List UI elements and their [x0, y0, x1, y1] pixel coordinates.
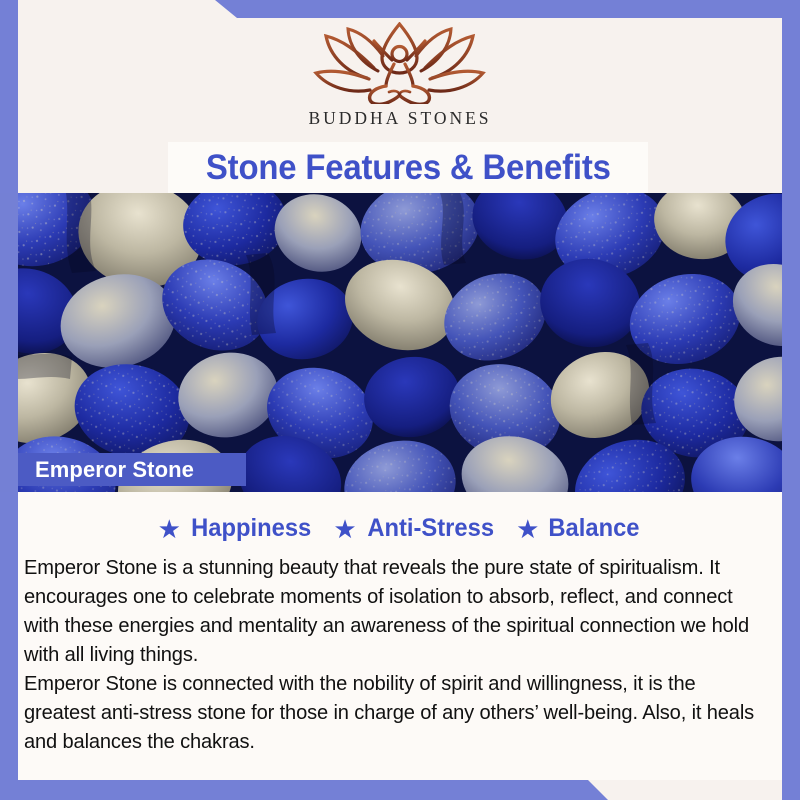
star-icon: ★	[516, 516, 539, 542]
benefit-item: ★ Balance	[516, 514, 642, 543]
border-accent-bottom	[0, 780, 800, 800]
benefit-item: ★ Anti-Stress	[333, 514, 497, 543]
description: Emperor Stone is a stunning beauty that …	[18, 553, 782, 756]
benefit-item: ★ Happiness	[158, 514, 315, 543]
benefits-list: ★ Happiness ★ Anti-Stress ★ Balance	[18, 514, 782, 543]
page-title-text: Stone Features & Benefits	[206, 148, 611, 188]
stone-photo	[0, 193, 800, 492]
stone-name-text: Emperor Stone	[35, 457, 194, 483]
stone-photo-image	[0, 193, 800, 492]
border-accent-left-overlay	[0, 193, 18, 492]
benefit-label: Anti-Stress	[367, 514, 494, 543]
description-paragraph: Emperor Stone is connected with the nobi…	[24, 669, 761, 756]
brand-logo: BUDDHA STONES	[308, 22, 491, 129]
page-title: Stone Features & Benefits	[168, 142, 648, 193]
benefit-label: Balance	[549, 514, 640, 543]
description-paragraph: Emperor Stone is a stunning beauty that …	[24, 553, 761, 669]
lotus-meditation-icon	[312, 22, 487, 104]
border-accent-right-overlay	[782, 193, 800, 492]
stone-name-badge: Emperor Stone	[18, 453, 246, 486]
benefit-label: Happiness	[191, 514, 311, 543]
star-icon: ★	[333, 516, 356, 542]
star-icon: ★	[158, 516, 181, 542]
content-panel: ★ Happiness ★ Anti-Stress ★ Balance Empe…	[18, 492, 782, 780]
brand-name: BUDDHA STONES	[308, 108, 491, 129]
